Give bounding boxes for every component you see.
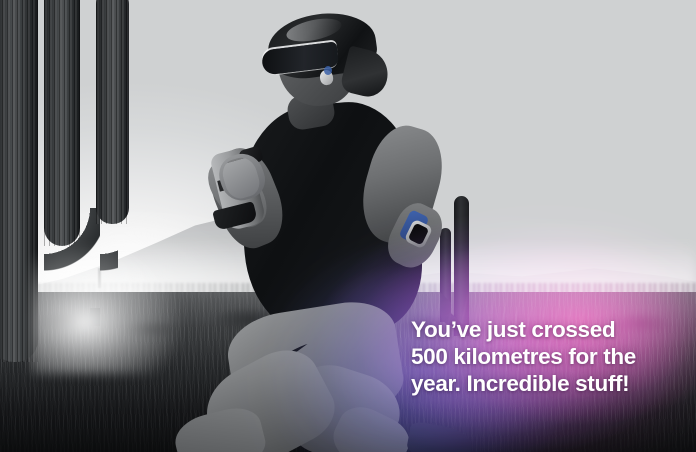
cactus-arm-outer [96, 0, 129, 224]
milestone-headline: You’ve just crossed 500 kilometres for t… [411, 316, 679, 397]
earbud-accent [324, 66, 332, 75]
cactus-backlight-bloom [32, 244, 182, 374]
running-shoe [406, 421, 475, 452]
hero-banner: You’ve just crossed 500 kilometres for t… [0, 0, 696, 452]
saguaro-cactus-left [0, 0, 172, 362]
cactus-ribs [96, 0, 129, 224]
